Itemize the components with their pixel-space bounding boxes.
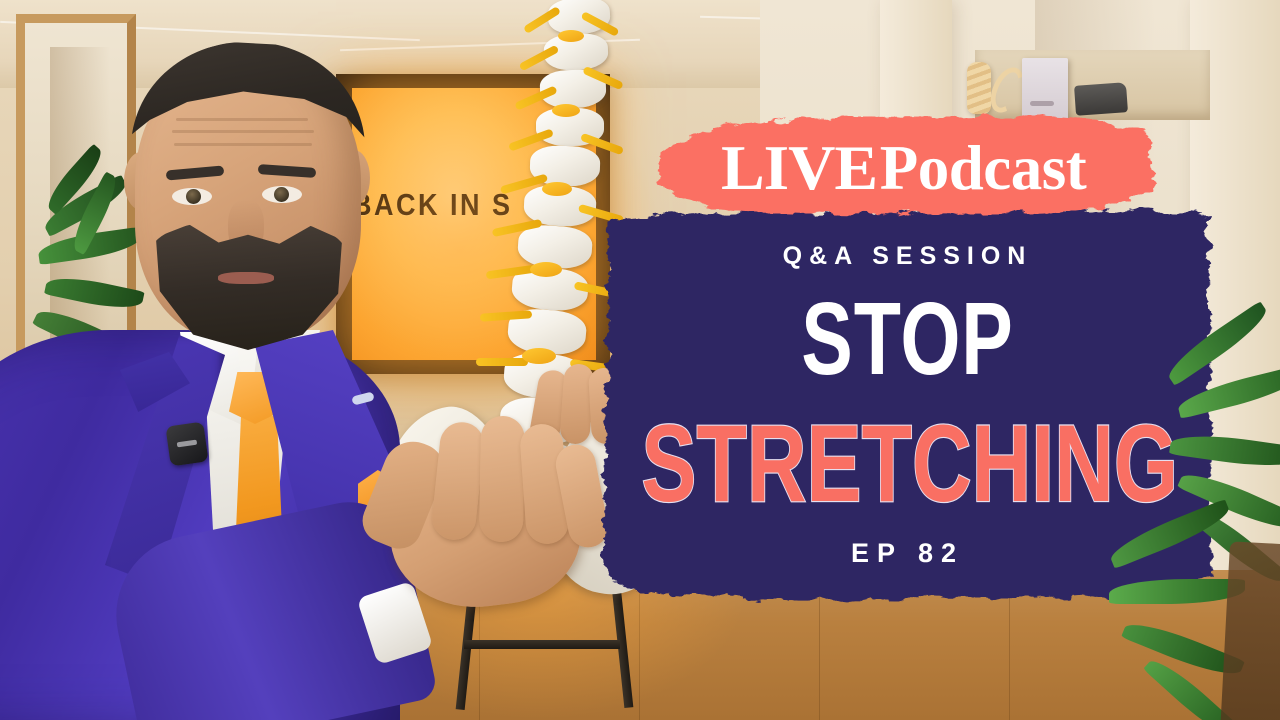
mouth	[218, 272, 274, 284]
live-podcast-title: LIVE Podcast	[655, 118, 1155, 218]
iris	[274, 187, 289, 202]
lapel-microphone-icon	[165, 422, 208, 467]
live-word: LIVE	[721, 137, 877, 200]
eye-right	[262, 186, 302, 203]
title-line-2: STRETCHING	[641, 410, 1174, 519]
title-line-1: STOP	[649, 288, 1166, 391]
podcast-word: Podcast	[880, 137, 1086, 200]
thumbnail-canvas: BACK IN S	[0, 0, 1280, 720]
kicker-text: Q&A SESSION	[600, 242, 1215, 271]
forehead-line	[172, 130, 314, 133]
hand-holding-model	[380, 430, 610, 660]
finger-middle	[479, 416, 525, 543]
episode-number: EP 82	[600, 538, 1215, 569]
decor-dark-object	[1074, 82, 1128, 116]
decor-spiral-object	[967, 62, 991, 114]
iris	[186, 189, 201, 204]
eye-left	[172, 188, 212, 205]
forehead-line	[174, 143, 312, 146]
product-box	[1022, 58, 1068, 120]
intervertebral-disc	[558, 30, 584, 42]
forehead-line	[176, 118, 308, 121]
